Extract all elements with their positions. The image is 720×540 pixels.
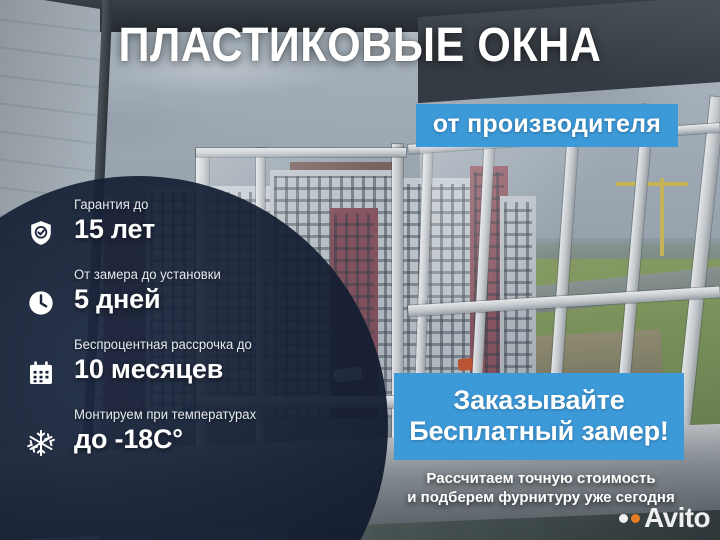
feature-caption: От замера до установки [74,268,266,283]
feature-value: 10 месяцев [74,356,272,383]
feature-caption: Монтируем при температурах [74,408,266,423]
feature-warranty: Гарантия до 15 лет [22,198,272,246]
avito-logo-dots [619,514,640,523]
avito-dot-white [619,514,628,523]
construction-crane [660,178,664,256]
advertisement-banner: ПЛАСТИКОВЫЕ ОКНА от производителя Гарант… [0,0,720,540]
avito-watermark: Avito [619,504,710,532]
cta-banner[interactable]: Заказывайте Бесплатный замер! [394,373,684,460]
feature-list: Гарантия до 15 лет От замера до установк… [22,198,272,456]
feature-value: до -18С° [74,426,272,453]
snowflake-icon [26,428,56,458]
avito-dot-orange [631,514,640,523]
manufacturer-badge: от производителя [416,104,678,147]
clock-icon [26,288,56,318]
calendar-icon [26,358,56,388]
feature-value: 5 дней [74,286,272,313]
feature-installment-plan: Беспроцентная рассрочка до 10 месяцев [22,338,272,386]
feature-installation-time: От замера до установки 5 дней [22,268,272,316]
cta-line-2: Бесплатный замер! [402,416,676,447]
page-title: ПЛАСТИКОВЫЕ ОКНА [36,22,684,70]
cta-subtext-line-1: Рассчитаем точную стоимость [378,470,704,489]
feature-caption: Гарантия до [74,198,266,213]
feature-caption: Беспроцентная рассрочка до [74,338,266,353]
feature-temperature-range: Монтируем при температурах до -18С° [22,408,272,456]
feature-value: 15 лет [74,216,272,243]
avito-brand-text: Avito [644,504,710,532]
cta-line-1: Заказывайте [402,385,676,416]
shield-check-icon [26,218,56,248]
window-frame-horizontal [196,148,406,157]
